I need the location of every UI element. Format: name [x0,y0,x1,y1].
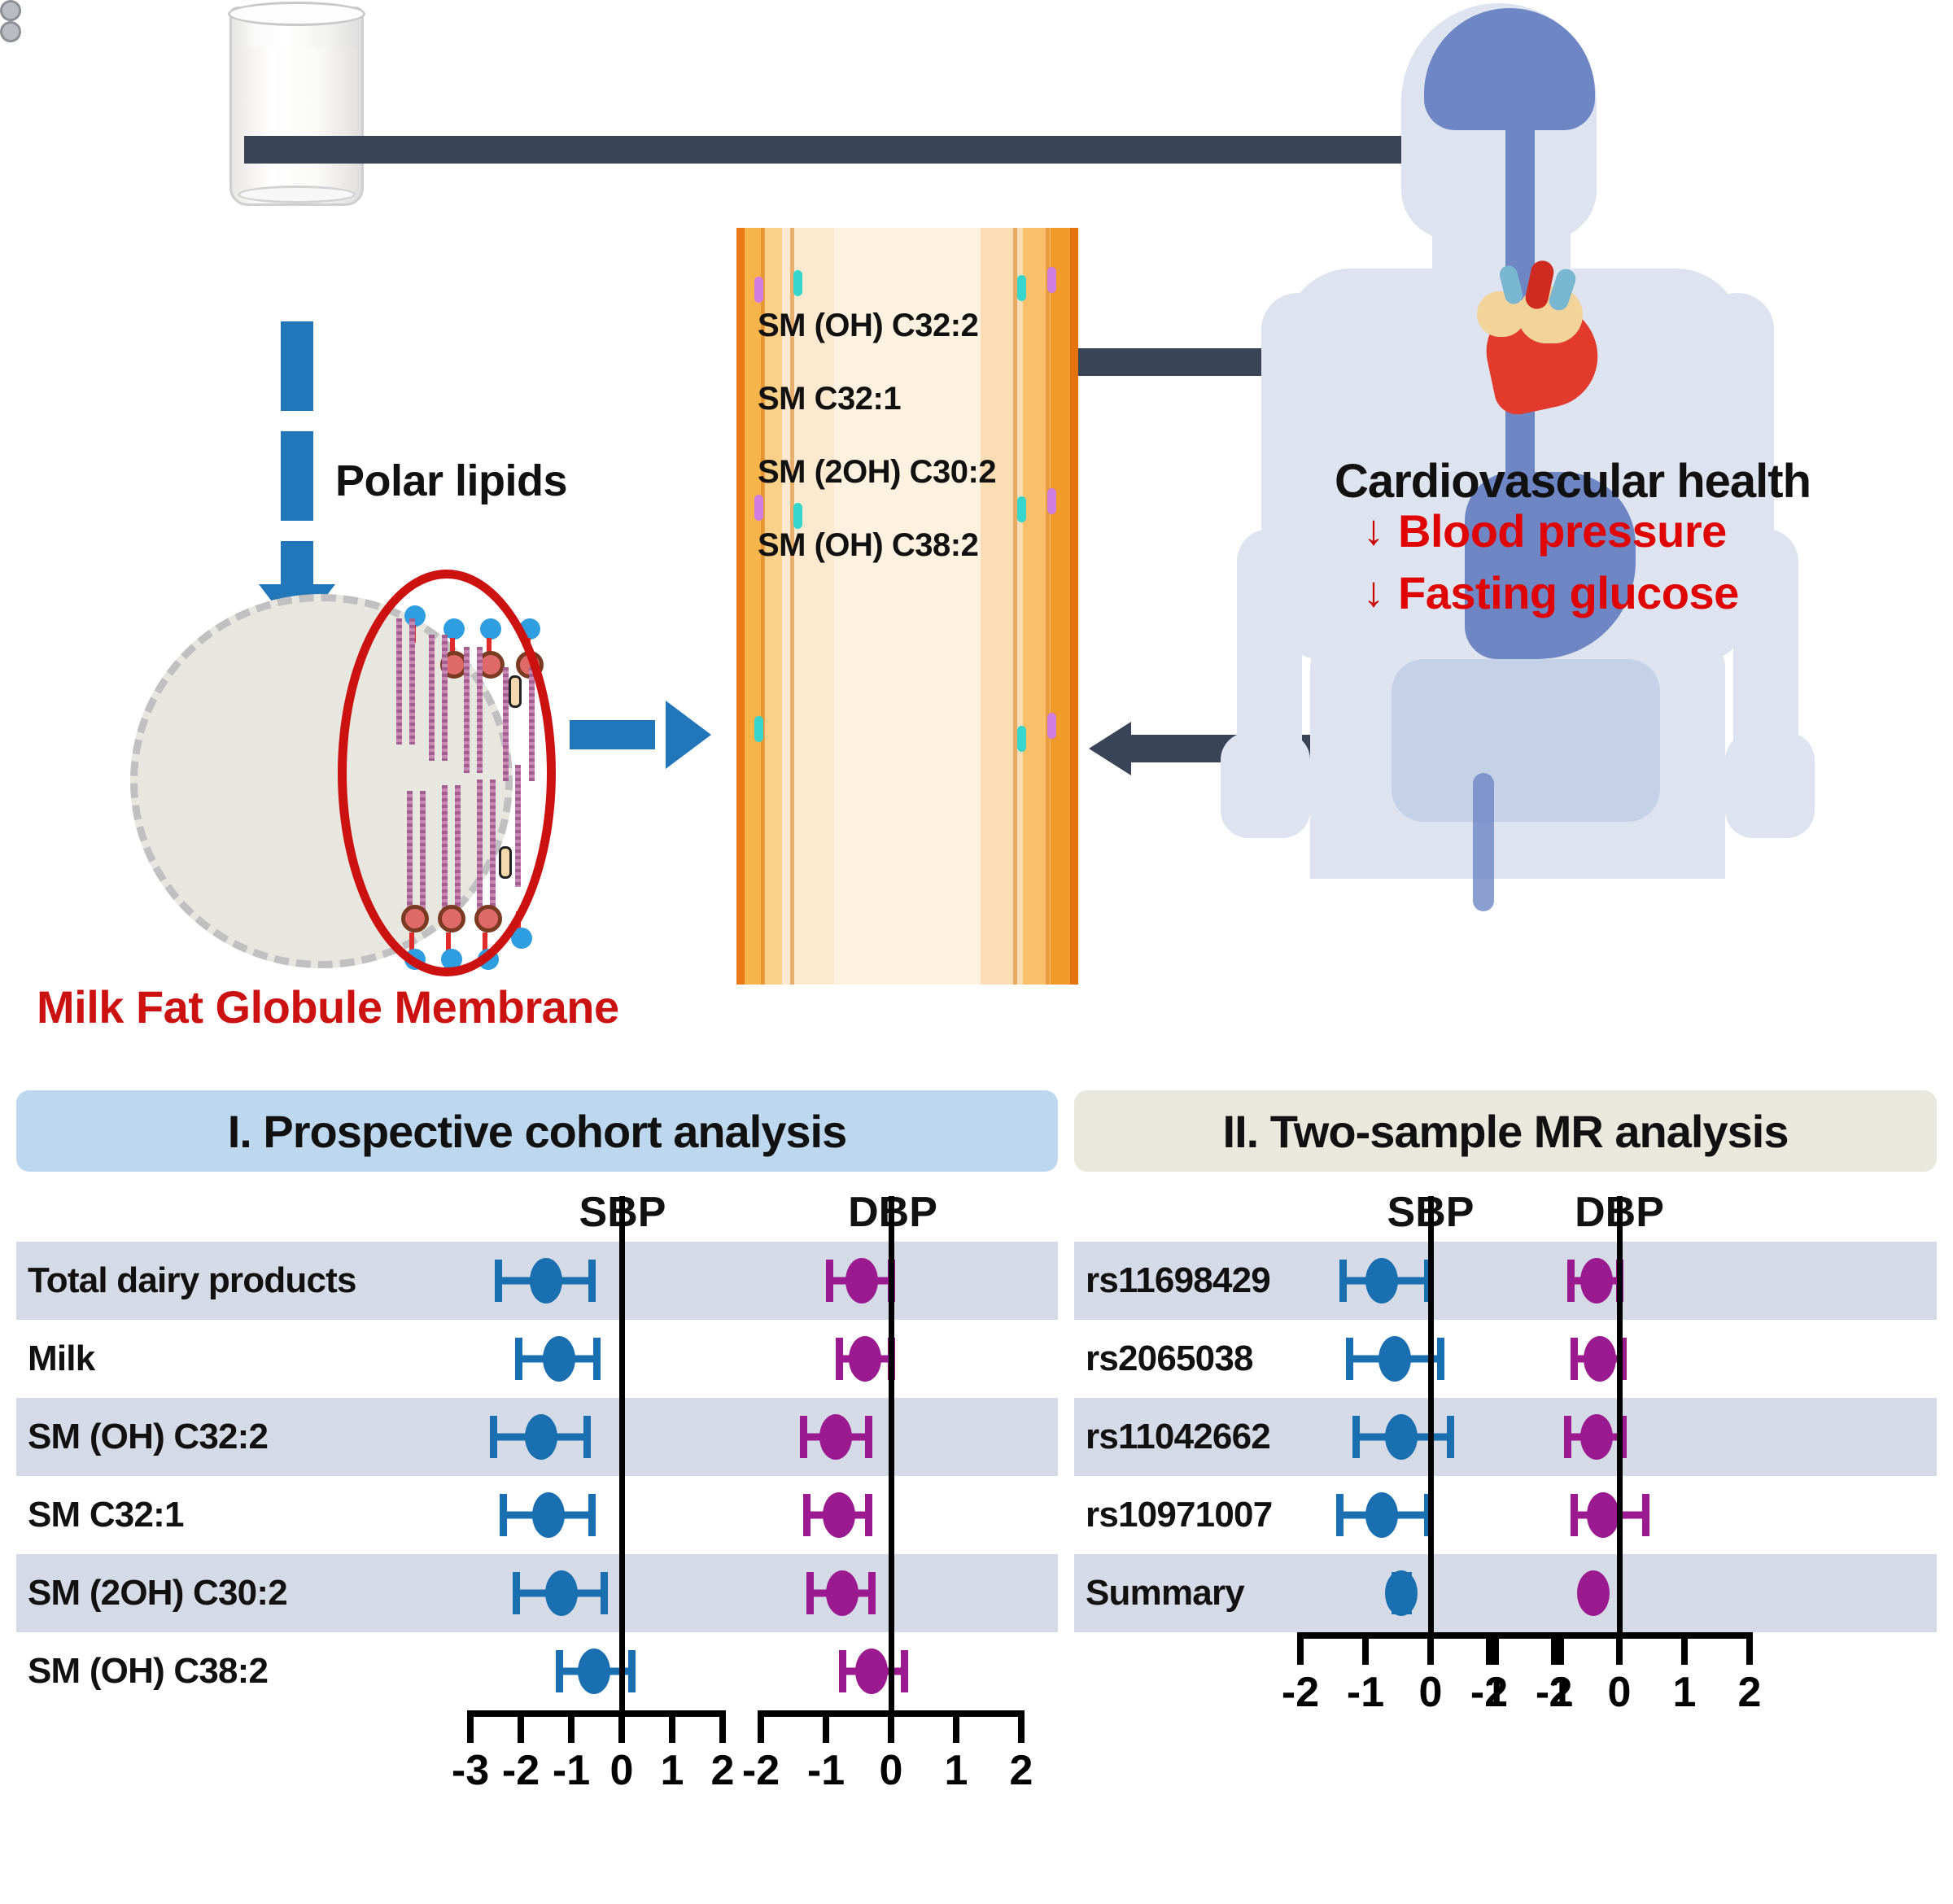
axis-tick [953,1710,959,1743]
zero-reference-line-dbp [1617,1196,1623,1632]
axis-tick-label: -1 [1536,1668,1573,1717]
axis-tick-label: 2 [1010,1746,1033,1795]
outcome-fasting-glucose: Fasting glucose [1398,566,1739,619]
forest-row: SM (OH) C38:2 [16,1632,1058,1710]
axis-tick-label: 1 [1673,1668,1697,1717]
axis-tick [1551,1632,1558,1665]
vessel-lipid-label-2: SM C32:1 [758,381,901,417]
axis-tick-label: -2 [742,1746,780,1795]
forest-row: SM C32:1 [16,1476,1058,1554]
axis-tick [1018,1710,1025,1743]
forest-row: Milk [16,1320,1058,1398]
forest-row: rs11698429 [1074,1242,1937,1320]
axis-tick [467,1710,474,1743]
axis-bar [470,1710,723,1717]
axis-tick [568,1710,575,1743]
forest-row: rs11042662 [1074,1398,1937,1476]
panel1-x-axis: -3-2-1012-2-1012 [16,1710,1058,1762]
vessel-lipid-label-4: SM (OH) C38:2 [758,527,978,564]
forest-row: rs2065038 [1074,1320,1937,1398]
zero-reference-line-dbp [889,1196,894,1710]
forest-row-label: rs2065038 [1086,1338,1253,1379]
graphical-abstract-illustration: Polar lipids [0,0,1953,1082]
forest-row-label: Total dairy products [28,1260,356,1301]
axis-tick-label: 1 [661,1746,684,1795]
forest-row: SM (OH) C32:2 [16,1398,1058,1476]
vessel-lipid-label-3: SM (2OH) C30:2 [758,454,996,491]
axis-tick [719,1710,726,1743]
axis-tick-label: 0 [1419,1668,1443,1717]
axis-tick-label: -2 [1282,1668,1319,1717]
axis-tick-label: 2 [1738,1668,1762,1717]
axis-tick [1746,1632,1753,1665]
axis-tick-label: 0 [610,1746,634,1795]
axis-tick-label: -3 [452,1746,489,1795]
zero-reference-line-sbp [619,1196,625,1710]
axis-tick [669,1710,675,1743]
axis-tick-label: -1 [1347,1668,1384,1717]
forest-row: rs10971007 [1074,1476,1937,1554]
forest-row: Total dairy products [16,1242,1058,1320]
forest-row-label: SM (OH) C38:2 [28,1651,268,1692]
cardiovascular-health-title: Cardiovascular health [1335,454,1811,509]
polar-lipids-label: Polar lipids [335,456,567,506]
axis-tick [518,1710,524,1743]
blood-vessel-illustration: SM (OH) C32:2 SM C32:1 SM (2OH) C30:2 SM… [736,228,1078,985]
forest-row-label: rs11698429 [1086,1260,1270,1301]
axis-tick-label: 0 [1608,1668,1632,1717]
axis-tick-label: -1 [553,1746,590,1795]
panel2-title: II. Two-sample MR analysis [1074,1090,1937,1172]
mfgm-label: Milk Fat Globule Membrane [37,980,619,1033]
axis-tick [888,1710,894,1743]
axis-tick [1486,1632,1492,1665]
mfgm-highlight-ellipse [338,570,556,976]
down-arrow-icon-1: ↓ [1363,506,1384,555]
panel2-column-headers: SBP DBP [1074,1172,1937,1242]
panel1-column-headers: SBP DBP [16,1172,1058,1242]
panel1-forest-rows: Total dairy productsMilkSM (OH) C32:2SM … [16,1242,1058,1710]
axis-tick [1681,1632,1688,1665]
panel1-title: I. Prospective cohort analysis [16,1090,1058,1172]
axis-tick [758,1710,764,1743]
forest-row-label: SM C32:1 [28,1495,184,1535]
axis-tick-label: -2 [502,1746,540,1795]
panel2-x-axis: -2-1012-2-1012 [1074,1632,1937,1684]
axis-tick [618,1710,625,1743]
down-arrow-icon-2: ↓ [1363,568,1384,617]
panel2-forest-rows: rs11698429rs2065038rs11042662rs10971007S… [1074,1242,1937,1632]
intestines-icon [1392,659,1660,822]
panel-prospective-cohort-analysis: I. Prospective cohort analysis SBP DBP T… [16,1090,1058,1762]
axis-tick [1362,1632,1369,1665]
vessel-lipid-label-1: SM (OH) C32:2 [758,308,978,344]
axis-tick [1297,1632,1304,1665]
forest-row: SM (2OH) C30:2 [16,1554,1058,1632]
forest-row-label: Summary [1086,1573,1244,1614]
axis-tick [1616,1632,1623,1665]
forest-row-label: SM (OH) C32:2 [28,1417,268,1457]
forest-row-label: rs11042662 [1086,1417,1270,1457]
zero-reference-line-sbp [1428,1196,1434,1632]
forest-row-label: Milk [28,1338,94,1379]
axis-tick-label: -2 [1470,1668,1508,1717]
axis-tick [823,1710,829,1743]
forest-row-label: rs10971007 [1086,1495,1272,1535]
axis-tick [1427,1632,1434,1665]
panel-two-sample-mr-analysis: II. Two-sample MR analysis SBP DBP rs116… [1074,1090,1937,1684]
axis-tick-label: 2 [711,1746,735,1795]
forest-row: Summary [1074,1554,1937,1632]
axis-tick-label: 0 [880,1746,903,1795]
forest-row-label: SM (2OH) C30:2 [28,1573,287,1614]
outcome-blood-pressure: Blood pressure [1398,504,1727,557]
axis-tick-label: -1 [807,1746,845,1795]
axis-tick-label: 1 [945,1746,968,1795]
